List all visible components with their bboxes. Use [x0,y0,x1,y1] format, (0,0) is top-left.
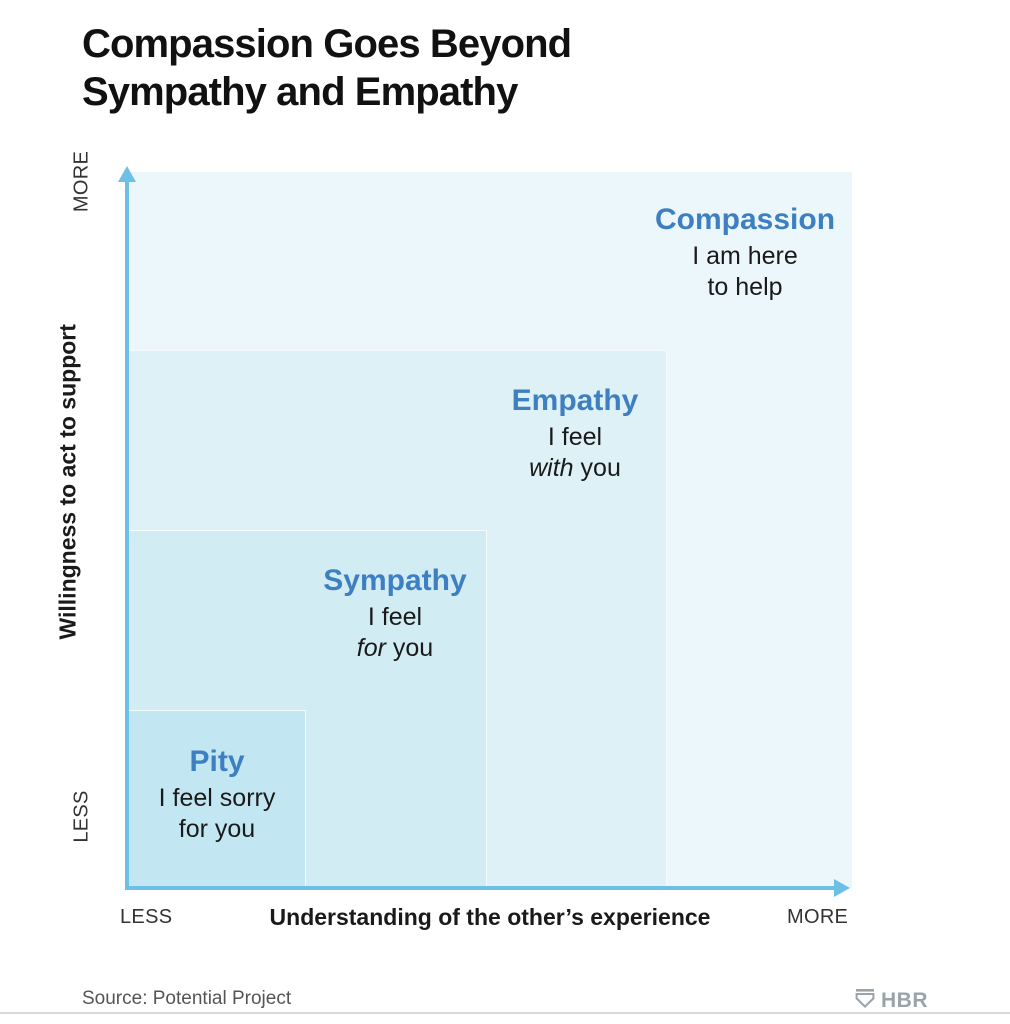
label-empathy-desc: I feel with you [480,422,670,484]
label-pity-desc-line1: I feel sorry [159,784,276,812]
x-axis-tick-less: LESS [120,906,172,929]
label-sympathy-desc-line2: you [386,634,433,662]
label-sympathy-desc-line1: I feel [368,603,422,631]
label-empathy-desc-line1: I feel [548,423,602,451]
label-pity: Pity I feel sorry for you [128,745,306,845]
x-axis-arrow-icon [834,879,850,897]
chart-canvas: Compassion I am here to help Empathy I f… [0,0,1010,1024]
label-compassion-desc: I am here to help [640,241,850,303]
label-sympathy-desc-em: for [357,634,386,662]
label-sympathy: Sympathy I feel for you [300,564,490,664]
y-axis-tick-more: MORE [71,142,94,222]
source-note: Source: Potential Project [82,988,291,1010]
label-empathy: Empathy I feel with you [480,384,670,484]
label-empathy-title: Empathy [480,384,670,418]
x-axis-tick-more: MORE [787,906,848,929]
label-sympathy-title: Sympathy [300,564,490,598]
label-compassion-title: Compassion [640,203,850,237]
label-sympathy-desc: I feel for you [300,602,490,664]
label-empathy-desc-em: with [529,454,573,482]
hbr-shield-icon [855,987,875,1014]
y-axis-arrow-icon [118,166,136,182]
x-axis-line [127,886,837,890]
label-compassion-desc-line1: I am here [692,242,798,270]
footer-divider [0,1012,1010,1014]
label-compassion: Compassion I am here to help [640,203,850,303]
label-pity-desc-line2: for you [179,815,255,843]
label-pity-desc: I feel sorry for you [128,783,306,845]
y-axis-label: Willingness to act to support [55,380,82,640]
hbr-logo: HBR [855,987,928,1014]
label-pity-title: Pity [128,745,306,779]
x-axis-label: Understanding of the other’s experience [240,904,740,931]
label-compassion-desc-line2: to help [707,273,782,301]
y-axis-tick-less: LESS [71,777,94,857]
hbr-logo-text: HBR [881,989,928,1013]
label-empathy-desc-line2: you [574,454,621,482]
